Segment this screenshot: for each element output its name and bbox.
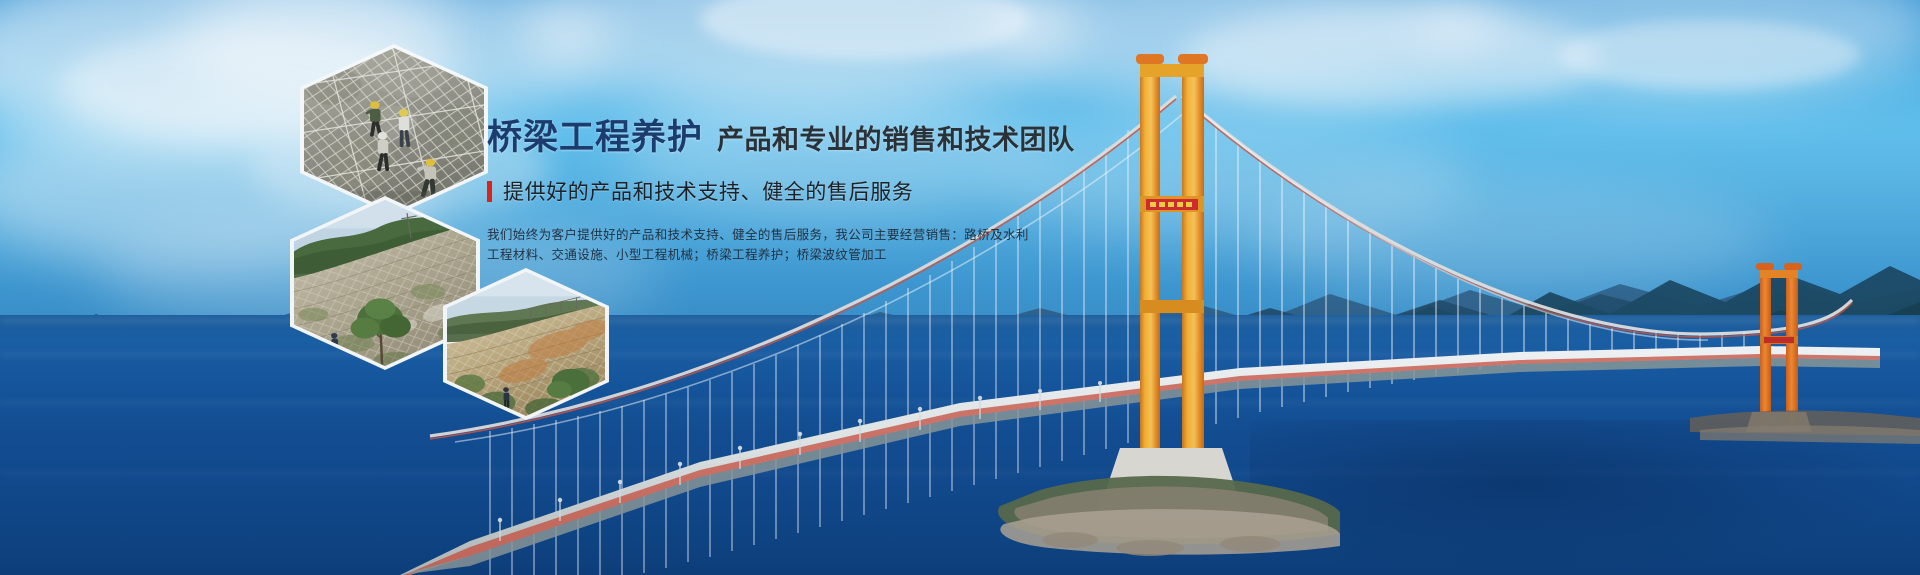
description-line: 工程材料、交通设施、小型工程机械；桥梁工程养护；桥梁波纹管加工 [487,245,1087,265]
subheadline-row: 提供好的产品和技术支持、健全的售后服务 [487,176,1087,206]
subheadline-text: 提供好的产品和技术支持、健全的售后服务 [503,176,913,206]
suspension-bridge [0,0,1920,575]
headline-row: 桥梁工程养护 产品和专业的销售和技术团队 [487,120,1087,155]
description-block: 我们始终为客户提供好的产品和技术支持、健全的售后服务，我公司主要经营销售：路桥及… [487,225,1087,265]
slope-netting-workers-image [304,48,484,212]
headline-secondary: 产品和专业的销售和技术团队 [717,127,1075,154]
hero-banner: 桥梁工程养护 产品和专业的销售和技术团队 提供好的产品和技术支持、健全的售后服务… [0,0,1920,575]
description-line: 我们始终为客户提供好的产品和技术支持、健全的售后服务，我公司主要经营销售：路桥及… [487,225,1087,245]
photo-hex-3[interactable] [443,268,609,420]
banner-text-block: 桥梁工程养护 产品和专业的销售和技术团队 提供好的产品和技术支持、健全的售后服务… [487,120,1087,265]
red-accent-bar [487,181,492,202]
photo-hex-1[interactable] [300,44,488,216]
headline-primary: 桥梁工程养护 [487,120,703,155]
